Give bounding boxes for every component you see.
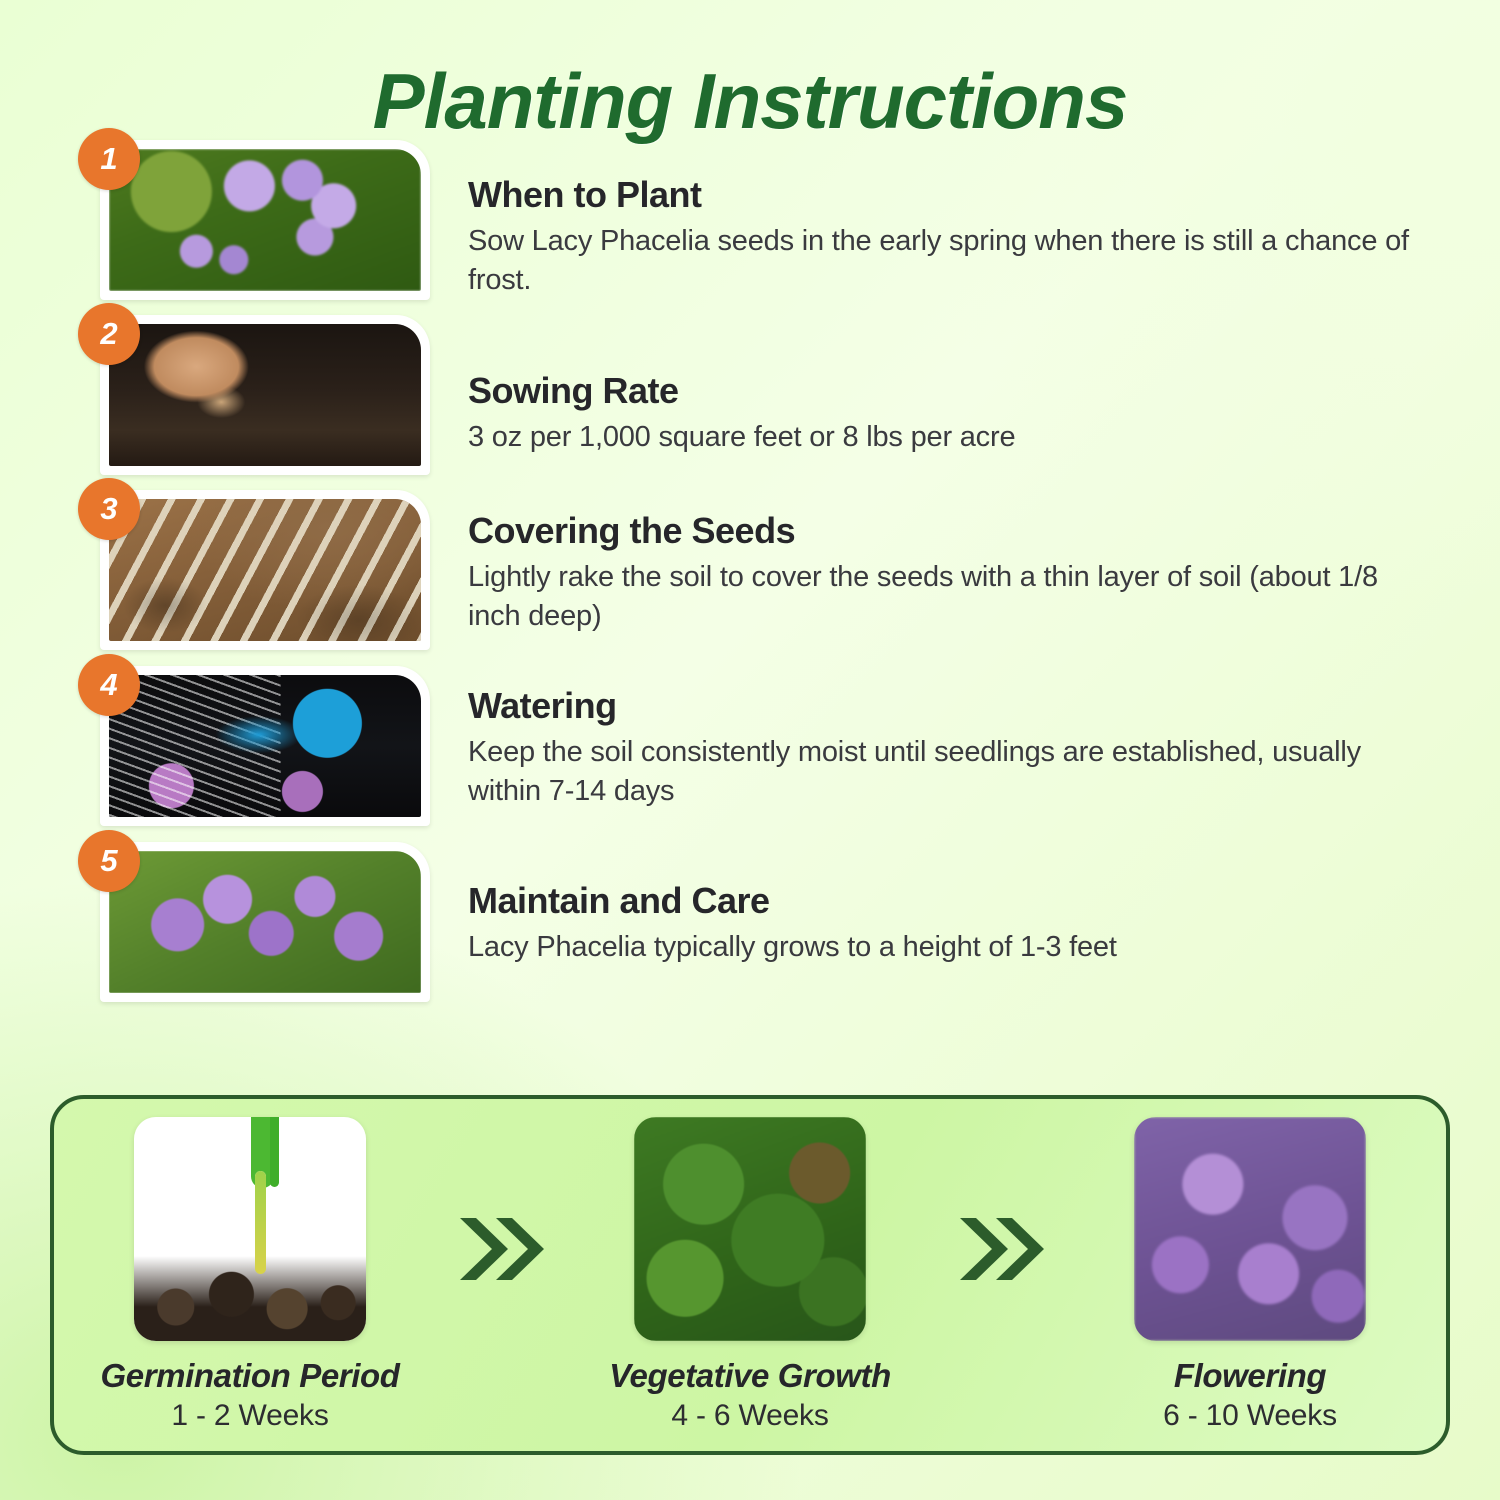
double-chevron-right-icon — [445, 1212, 555, 1286]
rake-in-soil-photo — [109, 499, 421, 641]
step-5-number-badge: 5 — [78, 830, 140, 892]
step-2-number-badge: 2 — [78, 303, 140, 365]
growth-timeline-panel: Germination Period 1 - 2 Weeks Vegetativ… — [50, 1095, 1450, 1455]
step-5-thumbnail-wrap: 5 — [100, 842, 430, 1002]
timeline-stage-1-duration: 1 - 2 Weeks — [100, 1399, 400, 1433]
step-3-text: Covering the Seeds Lightly rake the soil… — [468, 510, 1433, 637]
step-5-body: Lacy Phacelia typically grows to a heigh… — [468, 928, 1433, 967]
timeline-stage-flowering: Flowering 6 - 10 Weeks — [1100, 1117, 1400, 1433]
step-3-number-badge: 3 — [78, 478, 140, 540]
double-chevron-right-icon-2 — [945, 1212, 1055, 1286]
step-5-thumbnail: 5 — [100, 842, 430, 1002]
timeline-stage-germination: Germination Period 1 - 2 Weeks — [100, 1117, 400, 1433]
step-3-thumbnail: 3 — [100, 490, 430, 650]
page-title: Planting Instructions — [0, 0, 1500, 140]
step-1-title: When to Plant — [468, 174, 1433, 216]
step-5-title: Maintain and Care — [468, 880, 1433, 922]
green-foliage-photo — [634, 1117, 866, 1341]
step-3-body: Lightly rake the soil to cover the seeds… — [468, 558, 1433, 637]
step-5-text: Maintain and Care Lacy Phacelia typicall… — [468, 880, 1433, 967]
sprouting-seed-photo — [134, 1117, 366, 1341]
step-1-thumbnail-wrap: 1 — [100, 140, 430, 300]
hand-sowing-seeds-photo — [109, 324, 421, 466]
step-2-body: 3 oz per 1,000 square feet or 8 lbs per … — [468, 418, 1433, 457]
timeline-stage-2-label: Vegetative Growth — [600, 1357, 900, 1395]
purple-blooms-photo — [1134, 1117, 1366, 1341]
step-3-title: Covering the Seeds — [468, 510, 1433, 552]
phacelia-flowers-photo — [109, 149, 421, 291]
step-4-body: Keep the soil consistently moist until s… — [468, 733, 1433, 812]
step-2-title: Sowing Rate — [468, 370, 1433, 412]
step-2-thumbnail-wrap: 2 — [100, 315, 430, 475]
step-1-body: Sow Lacy Phacelia seeds in the early spr… — [468, 222, 1433, 301]
timeline-stage-3-duration: 6 - 10 Weeks — [1100, 1399, 1400, 1433]
phacelia-closeup-photo — [109, 851, 421, 993]
step-1-text: When to Plant Sow Lacy Phacelia seeds in… — [468, 174, 1433, 301]
timeline-stage-3-label: Flowering — [1100, 1357, 1400, 1395]
timeline-stage-vegetative: Vegetative Growth 4 - 6 Weeks — [600, 1117, 900, 1433]
timeline-stage-2-duration: 4 - 6 Weeks — [600, 1399, 900, 1433]
step-4-thumbnail: 4 — [100, 666, 430, 826]
timeline-stage-1-label: Germination Period — [100, 1357, 400, 1395]
step-3-thumbnail-wrap: 3 — [100, 490, 430, 650]
step-2-thumbnail: 2 — [100, 315, 430, 475]
step-2-text: Sowing Rate 3 oz per 1,000 square feet o… — [468, 370, 1433, 457]
watering-can-photo — [109, 675, 421, 817]
step-1-number-badge: 1 — [78, 128, 140, 190]
step-4-number-badge: 4 — [78, 654, 140, 716]
step-4-thumbnail-wrap: 4 — [100, 666, 430, 826]
step-4-text: Watering Keep the soil consistently mois… — [468, 685, 1433, 812]
step-1-thumbnail: 1 — [100, 140, 430, 300]
step-4-title: Watering — [468, 685, 1433, 727]
